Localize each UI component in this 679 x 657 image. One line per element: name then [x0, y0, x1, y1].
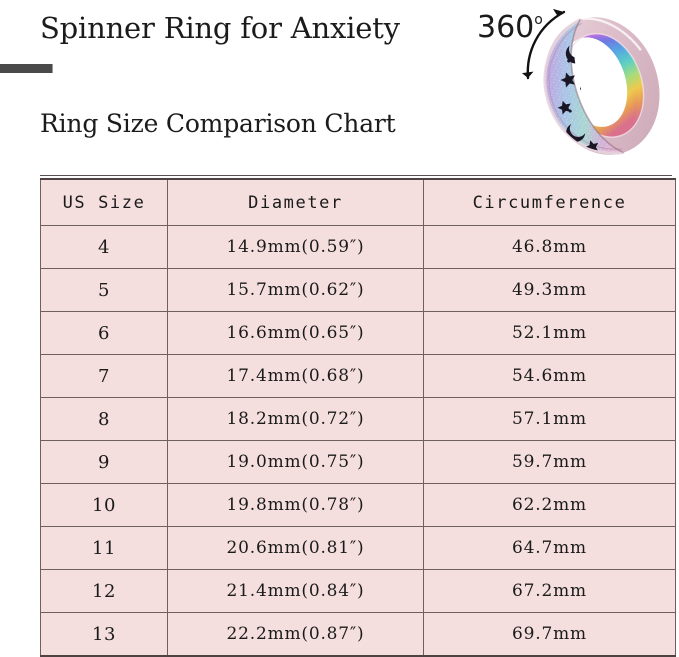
cell-diameter: 21.4mm(0.84″): [168, 570, 424, 613]
table-row: 1221.4mm(0.84″)67.2mm: [41, 570, 676, 613]
column-header-diameter: Diameter: [168, 179, 424, 226]
cell-diameter: 16.6mm(0.65″): [168, 312, 424, 355]
cell-diameter: 15.7mm(0.62″): [168, 269, 424, 312]
table-row: 1120.6mm(0.81″)64.7mm: [41, 527, 676, 570]
table-header: US Size Diameter Circumference: [41, 179, 676, 226]
cell-size: 5: [41, 269, 168, 312]
cell-size: 4: [41, 226, 168, 269]
cell-size: 8: [41, 398, 168, 441]
cell-diameter: 19.0mm(0.75″): [168, 441, 424, 484]
cell-size: 6: [41, 312, 168, 355]
cell-size: 10: [41, 484, 168, 527]
table-row: 616.6mm(0.65″)52.1mm: [41, 312, 676, 355]
table-row: 919.0mm(0.75″)59.7mm: [41, 441, 676, 484]
cell-size: 7: [41, 355, 168, 398]
cell-circumference: 67.2mm: [424, 570, 676, 613]
cell-circumference: 57.1mm: [424, 398, 676, 441]
cell-circumference: 62.2mm: [424, 484, 676, 527]
cell-diameter: 19.8mm(0.78″): [168, 484, 424, 527]
cell-circumference: 69.7mm: [424, 613, 676, 657]
page-title: Spinner Ring for Anxiety: [40, 8, 400, 48]
cell-size: 12: [41, 570, 168, 613]
table-row: 414.9mm(0.59″)46.8mm: [41, 226, 676, 269]
table-header-row: US Size Diameter Circumference: [41, 179, 676, 226]
cell-circumference: 49.3mm: [424, 269, 676, 312]
cell-diameter: 22.2mm(0.87″): [168, 613, 424, 657]
column-header-circumference: Circumference: [424, 179, 676, 226]
cell-circumference: 52.1mm: [424, 312, 676, 355]
cell-circumference: 46.8mm: [424, 226, 676, 269]
cell-circumference: 54.6mm: [424, 355, 676, 398]
table-top-rule: [40, 175, 672, 176]
ring-size-comparison-table: US Size Diameter Circumference 414.9mm(0…: [40, 178, 676, 657]
cell-size: 9: [41, 441, 168, 484]
cell-diameter: 14.9mm(0.59″): [168, 226, 424, 269]
table-row: 515.7mm(0.62″)49.3mm: [41, 269, 676, 312]
cell-circumference: 59.7mm: [424, 441, 676, 484]
table-row: 1019.8mm(0.78″)62.2mm: [41, 484, 676, 527]
table-row: 1322.2mm(0.87″)69.7mm: [41, 613, 676, 657]
cell-circumference: 64.7mm: [424, 527, 676, 570]
table-body: 414.9mm(0.59″)46.8mm515.7mm(0.62″)49.3mm…: [41, 226, 676, 657]
spinner-ring-product-image: [520, 0, 679, 165]
column-header-us-size: US Size: [41, 179, 168, 226]
cell-diameter: 18.2mm(0.72″): [168, 398, 424, 441]
cell-diameter: 20.6mm(0.81″): [168, 527, 424, 570]
accent-bar-divider: [0, 64, 53, 73]
cell-size: 11: [41, 527, 168, 570]
section-subtitle: Ring Size Comparison Chart: [40, 106, 396, 142]
table-row: 818.2mm(0.72″)57.1mm: [41, 398, 676, 441]
cell-diameter: 17.4mm(0.68″): [168, 355, 424, 398]
table-row: 717.4mm(0.68″)54.6mm: [41, 355, 676, 398]
cell-size: 13: [41, 613, 168, 657]
